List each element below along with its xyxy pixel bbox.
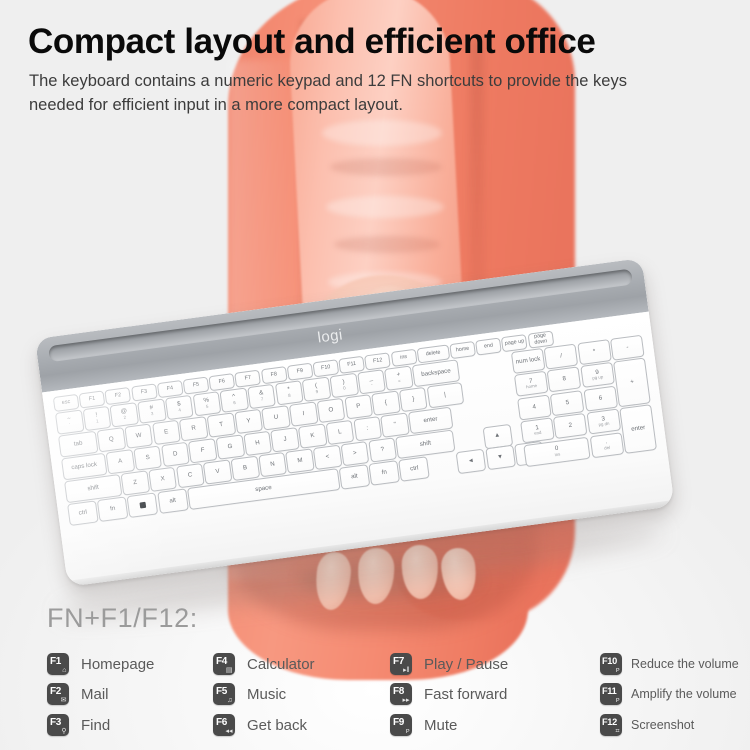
key-label: N [270,461,275,468]
keyboard-key: _- [357,369,386,394]
key-label: D [173,451,178,458]
legend-item-label: Homepage [81,656,154,673]
keyboard-key: T [207,412,236,437]
keyboard-key: *8 [275,380,304,405]
keyboard-key: #3 [137,398,166,423]
key-label: Y [246,418,251,425]
key-label: space [255,485,272,494]
keyboard-key: $4 [165,395,194,420]
keyboard-key: ▼ [485,445,516,471]
key-label: fn [381,469,387,476]
fn-key-badge-f1: F1⌂ [47,653,69,675]
fn-key-label: F10 [602,656,617,666]
key-label: C [188,472,193,479]
keyboard-key: W [124,423,153,448]
key-label: num lock [515,356,540,366]
key-sublabel: 6 [233,401,236,406]
legend-item-f4: F4▤Calculator [213,652,315,676]
keyboard-key: X [148,467,177,492]
keyboard-key: | [426,382,464,408]
key-sublabel: del [604,445,610,450]
key-label: M [297,457,303,464]
key-sublabel: 2 [123,416,126,421]
fn-shortcuts-heading: FN+F1/F12: [47,603,198,634]
key-label: F4 [167,386,174,392]
key-label: E [164,429,169,436]
key-label: O [328,407,334,414]
key-label: caps lock [71,462,97,472]
key-label: end [484,343,494,350]
key-sublabel: home [526,384,537,390]
key-label: alt [351,473,358,480]
key-label: U [273,414,278,421]
rewind-icon: ◂◂ [225,728,232,735]
keyboard-key: I [289,401,318,426]
key-label: F6 [218,379,225,385]
legend-item-label: Mail [81,686,109,703]
key-label: G [227,444,233,451]
key-sublabel: 1 [96,419,99,424]
keyboard-key: V [203,459,232,484]
fn-key-label: F12 [602,717,617,727]
fn-key-badge-f5: F5♫ [213,683,235,705]
fn-key-badge-f2: F2✉ [47,683,69,705]
fn-key-label: F7 [393,656,404,667]
keyboard-key: R [179,416,208,441]
key-label: F5 [193,382,200,388]
keyboard-key: - [610,335,645,361]
key-label: A [118,458,123,465]
fn-key-label: F8 [393,686,404,697]
fn-key-label: F1 [50,656,61,667]
keyboard-key: Q [97,427,126,452]
keyboard-key: ^6 [220,388,249,413]
legend-item-f2: F2✉Mail [47,682,109,706]
sleeve-wrinkle [334,236,440,253]
key-label: F12 [373,358,383,365]
key-sublabel: - [371,383,373,388]
keyboard-key: ? [368,437,397,462]
key-label: page up [505,339,525,347]
legend-item-label: Fast forward [424,686,507,703]
key-label: F10 [321,365,331,372]
legend-item-f1: F1⌂Homepage [47,652,154,676]
music-note-icon: ♫ [227,697,232,704]
keyboard-key: ~` [55,409,84,434]
key-label: I [302,411,305,418]
keyboard-key: ◄ [456,449,487,475]
keyboard-key: A [106,449,135,474]
keyboard-key: fn [97,496,129,522]
key-label: delete [426,350,441,358]
key-label: > [353,450,357,457]
key-label: 2 [568,423,572,430]
keyboard-key: enter [619,404,657,453]
key-label: F8 [270,372,277,378]
key-label: * [593,349,596,356]
keyboard-key: J [271,427,300,452]
key-label: T [219,422,224,429]
keyboard-key: > [340,441,369,466]
keyboard-key: < [313,445,342,470]
key-label: alt [169,498,176,505]
key-label: ctrl [78,509,87,517]
fn-key-badge-f10: F10ᴘ [600,653,622,675]
legend-item-label: Play / Pause [424,656,508,673]
fast-forward-icon: ▸▸ [402,697,409,704]
key-sublabel: 5 [206,405,209,410]
fn-key-badge-f6: F6◂◂ [213,714,235,736]
fn-key-label: F3 [50,717,61,728]
legend-item-label: Calculator [247,656,315,673]
key-label: F [200,447,205,454]
key-label: 5 [565,399,569,406]
fn-key-label: F11 [602,686,616,696]
keyboard-key: 1end [520,417,555,443]
keyboard-key: C [176,463,205,488]
sleeve-wrinkle [326,196,444,218]
keyboard-key: O [316,398,345,423]
key-sublabel: 3 [151,412,154,417]
legend-item-label: Screenshot [631,718,694,732]
keyboard-key [127,492,159,518]
key-sublabel: end [534,431,542,437]
keyboard-key: D [161,442,190,467]
legend-item-f7: F7▸‖Play / Pause [390,652,508,676]
legend-item-f12: F12⌗Screenshot [600,713,694,737]
key-label: W [135,432,142,439]
key-label: fn [110,506,116,513]
legend-item-label: Find [81,717,110,734]
key-label: K [310,433,315,440]
keyboard-key: L [325,420,354,445]
fn-key-badge-f12: F12⌗ [600,714,622,736]
keyboard-key: 5 [550,390,585,416]
product-marketing-image: logi escF1F2F3F4F5F6F7F8F9F10F11F12insde… [0,0,750,750]
fn-key-badge-f3: F3⚲ [47,714,69,736]
keyboard-key: alt [339,464,371,490]
legend-item-f3: F3⚲Find [47,713,110,737]
key-label: 4 [532,404,536,411]
keyboard-key: B [231,456,260,481]
keyboard-key: ctrl [67,500,99,526]
keyboard-key: F [188,438,217,463]
key-label: Z [133,479,138,486]
keyboard-key: * [577,339,612,365]
keyboard-key: += [384,366,413,391]
key-label: " [393,422,396,429]
page-subtitle: The keyboard contains a numeric keypad a… [29,70,669,118]
key-label: page down [528,332,552,346]
keyboard-key: ctrl [399,456,431,482]
key-label: | [444,392,446,399]
legend-item-f11: F11ᴘAmplify the volume [600,682,737,706]
keyboard-key: Z [121,470,150,495]
keyboard-key: { [371,390,400,415]
legend-item-label: Mute [424,717,457,734]
keyboard-key: : [353,416,382,441]
windows-icon [139,502,146,509]
key-label: F1 [89,396,96,402]
fn-key-badge-f4: F4▤ [213,653,235,675]
search-icon: ⚲ [61,728,66,735]
play-pause-icon: ▸‖ [403,667,409,674]
key-label: ? [380,447,384,454]
key-label: { [384,400,387,407]
key-label: - [626,344,629,351]
key-label: L [338,429,342,436]
keyboard-key: %5 [192,391,221,416]
key-sublabel: 8 [288,394,291,399]
legend-item-label: Get back [247,717,307,734]
fn-key-badge-f9: F9ᴘ [390,714,412,736]
key-label: ctrl [410,465,419,473]
key-label: Q [109,436,115,443]
keyboard-key: )0 [329,373,358,398]
key-label: ▲ [494,433,501,440]
legend-item-f9: F9ᴘMute [390,713,457,737]
keyboard-key: U [262,405,291,430]
calculator-icon: ▤ [226,667,233,674]
sleeve-wrinkle [322,120,442,146]
key-sublabel: pg dn [598,422,610,428]
keyboard-key: E [152,420,181,445]
keyboard-key: M [285,448,314,473]
key-label: enter [423,416,438,424]
keyboard-key: .del [589,432,624,458]
keyboard-key: fn [369,460,401,486]
keyboard-key: + [613,358,651,407]
keyboard-key: 9pg up [580,362,615,388]
keyboard-key: N [258,452,287,477]
key-label: 6 [598,395,602,402]
key-label: ▼ [497,454,504,461]
key-label: enter [631,425,646,433]
legend-item-f10: F10ᴘReduce the volume [600,652,739,676]
fn-key-label: F4 [216,656,227,667]
key-label: S [145,455,150,462]
key-label: 8 [562,376,566,383]
fn-key-badge-f8: F8▸▸ [390,683,412,705]
fn-key-badge-f11: F11ᴘ [600,683,622,705]
key-label: esc [62,400,71,407]
key-label: : [366,425,369,432]
mute-icon: ᴘ [406,728,410,735]
keyboard-key: !1 [82,406,111,431]
fn-shortcuts-legend: F1⌂HomepageF2✉MailF3⚲FindF4▤CalculatorF5… [0,644,750,744]
key-label: F9 [296,368,303,374]
key-sublabel: 4 [178,408,181,413]
key-label: shift [419,440,431,448]
keyboard-key: " [380,412,409,437]
key-label: F3 [141,389,148,395]
legend-item-f5: F5♫Music [213,682,286,706]
key-label: B [243,465,248,472]
keyboard-key: G [216,434,245,459]
keyboard-key: H [243,431,272,456]
keyboard-key: K [298,423,327,448]
fn-key-label: F2 [50,686,61,697]
key-label: F7 [244,375,251,381]
sleeve-wrinkle [330,158,442,176]
key-label: F11 [347,361,357,368]
keyboard-key: &7 [247,384,276,409]
keyboard-key: Y [234,409,263,434]
legend-item-label: Reduce the volume [631,657,739,671]
key-sublabel: 9 [315,390,318,395]
key-label: F2 [115,393,122,399]
keyboard-key: 4 [517,394,552,420]
key-label: / [560,353,563,360]
fn-key-label: F9 [393,717,404,728]
legend-item-label: Amplify the volume [631,687,737,701]
key-label: H [255,440,260,447]
key-label: } [412,396,415,403]
key-label: shift [87,485,99,493]
keyboard-key: alt [157,488,189,514]
key-label: ins [400,355,408,362]
keyboard-key: 3pg dn [586,409,621,435]
key-label: < [325,454,329,461]
screenshot-icon: ⌗ [616,728,620,735]
key-label: X [160,476,165,483]
fn-key-label: F5 [216,686,227,697]
fn-key-badge-f7: F7▸‖ [390,653,412,675]
key-label: ◄ [467,458,474,465]
key-sublabel: = [398,379,401,384]
keyboard-key: P [344,394,373,419]
keyboard-key: @2 [110,402,139,427]
key-label: P [356,403,361,410]
key-label: backspace [421,368,451,378]
page-title: Compact layout and efficient office [28,22,728,62]
key-label: + [630,379,634,386]
legend-item-f8: F8▸▸Fast forward [390,682,507,706]
keyboard-key: (9 [302,377,331,402]
keyboard-key: S [133,445,162,470]
key-label: R [191,425,196,432]
key-sublabel: pg up [592,375,604,381]
volume-up-icon: ᴘ [616,697,620,704]
keyboard-key: / [544,344,579,370]
volume-down-icon: ᴘ [616,667,620,674]
key-sublabel: 7 [261,397,264,402]
fn-key-label: F6 [216,717,227,728]
key-sublabel: ` [69,423,71,428]
key-label: V [215,468,220,475]
legend-item-label: Music [247,686,286,703]
keyboard-key: } [399,387,428,412]
key-sublabel: 0 [343,386,346,391]
key-label: tab [74,440,83,448]
envelope-icon: ✉ [61,697,67,704]
legend-item-f6: F6◂◂Get back [213,713,307,737]
keyboard-key: 6 [583,385,618,411]
key-sublabel: ins [554,452,560,457]
key-label: J [283,436,287,443]
home-icon: ⌂ [62,667,66,674]
keyboard-key: num lock [511,348,546,374]
keyboard-key: 2 [553,413,588,439]
key-label: home [456,346,470,353]
